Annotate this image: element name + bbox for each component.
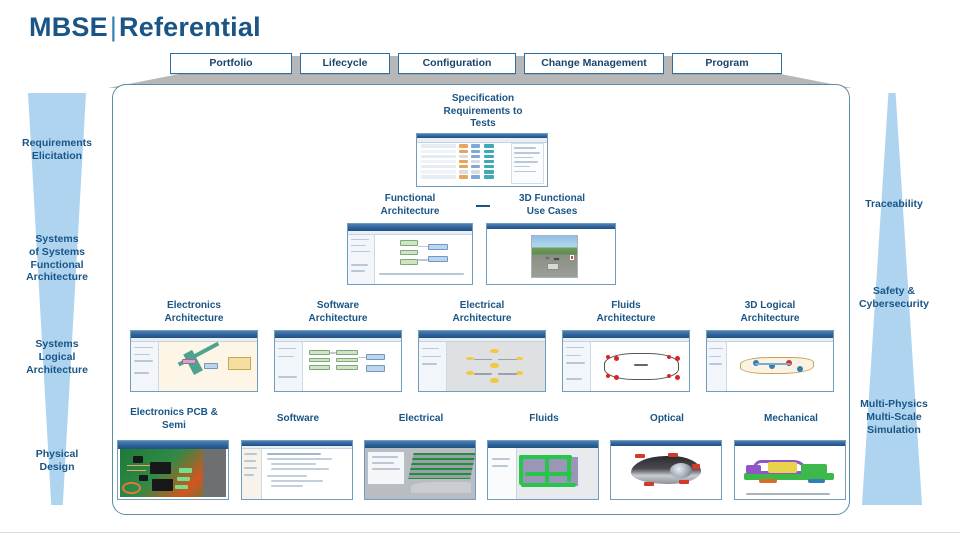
- thumbnail-electronics-pcb-semi[interactable]: [117, 440, 229, 500]
- label-fluids: Fluids: [486, 413, 602, 426]
- connector-dash: [476, 205, 490, 207]
- label-electronics-architecture: Electronics Architecture: [131, 300, 257, 325]
- left-axis-item-requirements-elicitation: Requirements Elicitation: [3, 137, 111, 163]
- thumbnail-software-architecture[interactable]: [274, 330, 402, 392]
- thumbnail-3d-functional-use-cases[interactable]: [486, 223, 616, 285]
- tab-program[interactable]: Program: [672, 53, 782, 74]
- label-mechanical: Mechanical: [733, 413, 849, 426]
- slide-bottom-rule: [0, 532, 960, 533]
- thumbnail-electronics-architecture[interactable]: [130, 330, 258, 392]
- slide-canvas: MBSE|Referential Portfolio Lifecycle Con…: [0, 0, 960, 539]
- label-electrical: Electrical: [363, 413, 479, 426]
- label-electrical-architecture: Electrical Architecture: [419, 300, 545, 325]
- thumbnail-3d-logical-architecture[interactable]: [706, 330, 834, 392]
- tab-change-management[interactable]: Change Management: [524, 53, 664, 74]
- thumbnail-fluids-architecture[interactable]: [562, 330, 690, 392]
- page-title: MBSE|Referential: [29, 12, 261, 43]
- thumbnail-mechanical[interactable]: [734, 440, 846, 500]
- thumbnail-electrical-architecture[interactable]: [418, 330, 546, 392]
- label-specification-requirements-to-tests: Specification Requirements to Tests: [420, 93, 546, 131]
- label-optical: Optical: [609, 413, 725, 426]
- label-fluids-architecture: Fluids Architecture: [563, 300, 689, 325]
- right-axis-item-safety-cybersecurity: Safety & Cybersecurity: [840, 285, 948, 311]
- label-3d-functional-use-cases: 3D Functional Use Cases: [492, 193, 612, 218]
- tab-portfolio[interactable]: Portfolio: [170, 53, 292, 74]
- title-primary: MBSE: [29, 12, 108, 42]
- left-axis-item-physical-design: Physical Design: [3, 448, 111, 474]
- left-axis-item-systems-logical-architecture: Systems Logical Architecture: [3, 338, 111, 376]
- tab-lifecycle[interactable]: Lifecycle: [300, 53, 390, 74]
- highway-scene-image: [531, 235, 578, 278]
- right-axis-item-multi-physics-simulation: Multi-Physics Multi-Scale Simulation: [840, 398, 948, 436]
- label-electronics-pcb-semi: Electronics PCB & Semi: [116, 407, 232, 432]
- left-axis-item-systems-of-systems-functional-architecture: Systems of Systems Functional Architectu…: [3, 233, 111, 284]
- thumbnail-functional-architecture[interactable]: [347, 223, 473, 285]
- title-secondary: Referential: [119, 12, 261, 42]
- label-software-architecture: Software Architecture: [275, 300, 401, 325]
- tab-configuration[interactable]: Configuration: [398, 53, 516, 74]
- label-software: Software: [240, 413, 356, 426]
- thumbnail-specification-requirements-to-tests[interactable]: [416, 133, 548, 187]
- label-3d-logical-architecture: 3D Logical Architecture: [707, 300, 833, 325]
- thumbnail-fluids[interactable]: [487, 440, 599, 500]
- thumbnail-software[interactable]: [241, 440, 353, 500]
- thumbnail-optical[interactable]: [610, 440, 722, 500]
- label-functional-architecture: Functional Architecture: [350, 193, 470, 218]
- top-tab-bar: Portfolio Lifecycle Configuration Change…: [170, 52, 800, 74]
- thumbnail-electrical[interactable]: [364, 440, 476, 500]
- title-separator: |: [108, 12, 119, 42]
- right-axis-item-traceability: Traceability: [840, 198, 948, 211]
